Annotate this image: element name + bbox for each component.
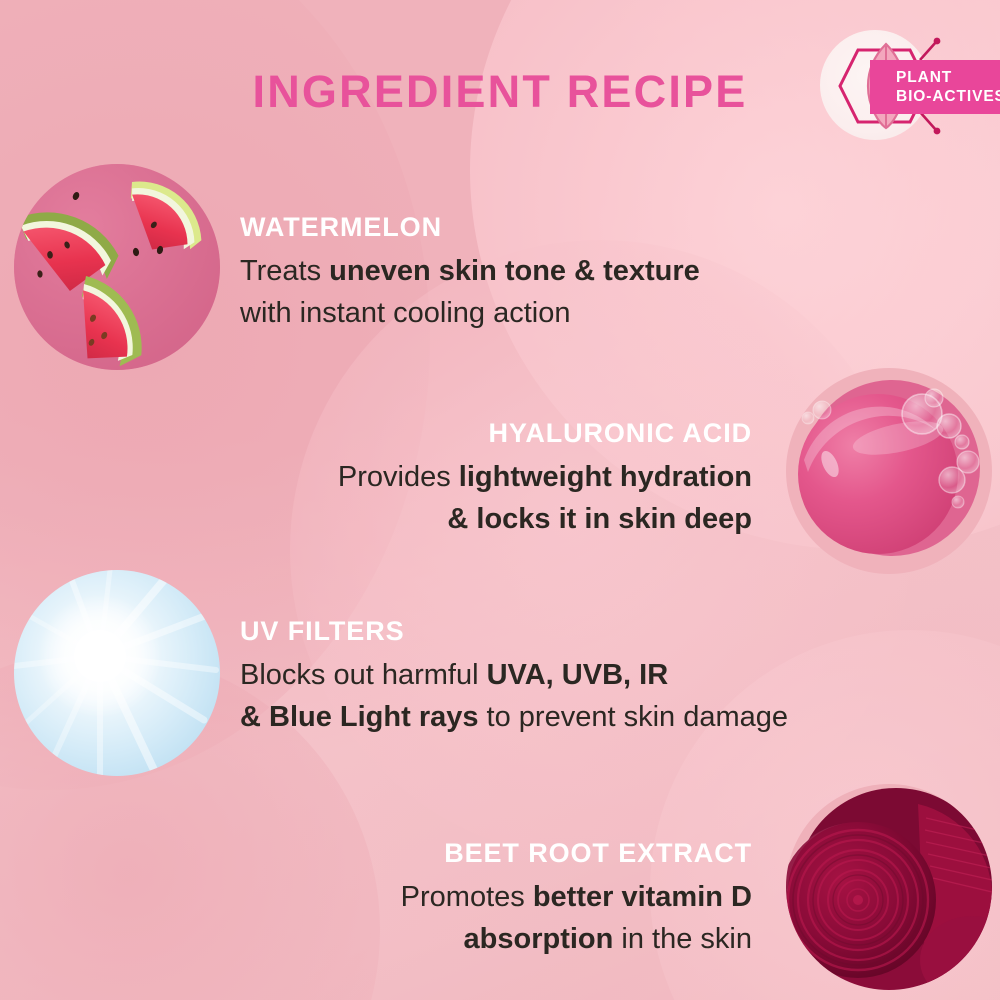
ingredient-block-watermelon: WATERMELON Treats uneven skin tone & tex… bbox=[240, 212, 700, 334]
ingredient-block-beet-root-extract: BEET ROOT EXTRACT Promotes better vitami… bbox=[401, 838, 752, 960]
badge-line-1: PLANT bbox=[896, 68, 1000, 87]
ingredient-name-beet-root-extract: BEET ROOT EXTRACT bbox=[401, 838, 752, 869]
ingredient-block-uv-filters: UV FILTERS Blocks out harmful UVA, UVB, … bbox=[240, 616, 788, 738]
beet-root-extract-image bbox=[786, 784, 992, 990]
watermelon-image bbox=[14, 164, 220, 370]
uv-filters-image bbox=[14, 570, 220, 776]
ingredient-description-hyaluronic-acid: Provides lightweight hydration& locks it… bbox=[338, 456, 752, 540]
ingredient-description-watermelon: Treats uneven skin tone & texturewith in… bbox=[240, 250, 700, 334]
ingredient-description-beet-root-extract: Promotes better vitamin Dabsorption in t… bbox=[401, 876, 752, 960]
ingredient-block-hyaluronic-acid: HYALURONIC ACID Provides lightweight hyd… bbox=[338, 418, 752, 540]
ingredient-description-uv-filters: Blocks out harmful UVA, UVB, IR& Blue Li… bbox=[240, 654, 788, 738]
plant-bio-actives-badge: PLANT BIO-ACTIVES bbox=[812, 26, 1000, 144]
ingredient-name-watermelon: WATERMELON bbox=[240, 212, 700, 243]
ingredient-name-hyaluronic-acid: HYALURONIC ACID bbox=[338, 418, 752, 449]
hyaluronic-acid-image bbox=[786, 368, 992, 574]
ingredient-name-uv-filters: UV FILTERS bbox=[240, 616, 788, 647]
badge-line-2: BIO-ACTIVES bbox=[896, 87, 1000, 106]
badge-banner: PLANT BIO-ACTIVES bbox=[870, 60, 1000, 114]
